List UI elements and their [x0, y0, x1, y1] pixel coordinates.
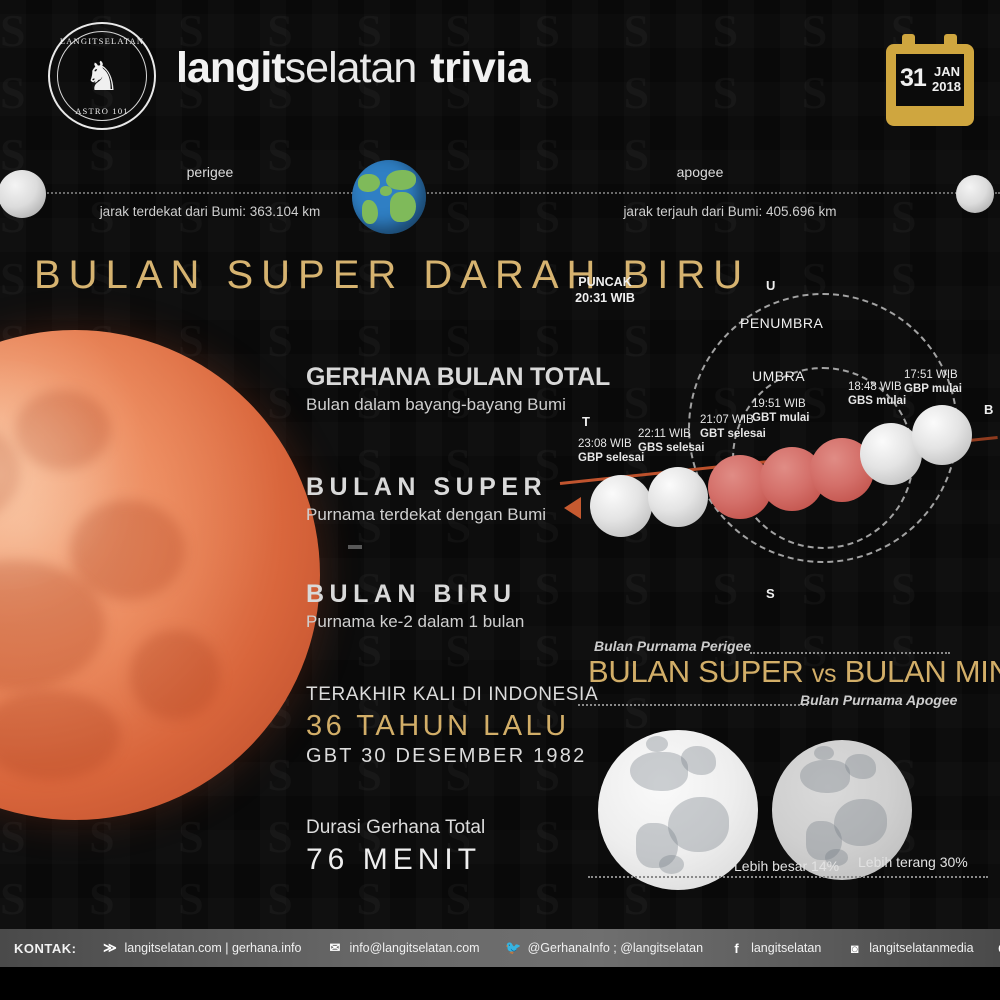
- brand-trivia: trivia: [430, 44, 530, 92]
- duration-caption: Durasi Gerhana Total: [306, 817, 485, 839]
- stage-time: 19:51 WIB: [752, 397, 810, 411]
- duration-value: 76 MENIT: [306, 843, 485, 877]
- stage-time: 22:11 WIB: [638, 427, 704, 441]
- footer-item-instagram[interactable]: ◙ langitselatanmedia: [847, 941, 973, 956]
- footer-item-website[interactable]: ≫ langitselatan.com | gerhana.info: [102, 941, 301, 956]
- eclipse-stage-label: 23:08 WIB GBP selesai: [578, 437, 644, 465]
- brighter-percentage-label: Lebih terang 30%: [858, 854, 968, 870]
- facebook-icon: f: [729, 941, 744, 956]
- fact-bulan-super: BULAN SUPER Purnama terdekat dengan Bumi: [306, 473, 547, 525]
- orbit-dotted-line: [0, 192, 1000, 194]
- eclipse-stage-label: 18:48 WIB GBS mulai: [848, 380, 906, 408]
- footer-item-text: @GerhanaInfo ; @langitselatan: [528, 941, 703, 955]
- apogee-label: apogee: [610, 164, 790, 180]
- moon-mare: [630, 752, 688, 790]
- fact-subtext: Purnama terdekat dengan Bumi: [306, 505, 547, 525]
- moon-mare: [800, 760, 850, 794]
- stage-event: GBS selesai: [638, 441, 704, 455]
- eclipse-path-diagram: U S T B PENUMBRA UMBRA PUNCAK 20:31 WIB …: [560, 275, 1000, 615]
- apogee-distance: jarak terjauh dari Bumi: 405.696 km: [608, 204, 852, 219]
- stage-event: GBT selesai: [700, 427, 766, 441]
- stage-time: 18:48 WIB: [848, 380, 906, 394]
- email-icon: ✉: [327, 941, 342, 956]
- blood-moon-illustration: [0, 330, 320, 820]
- seal-bottom-text: ASTRO 101: [50, 106, 154, 116]
- stage-time: 23:08 WIB: [578, 437, 644, 451]
- stage-event-text: GBT selesai: [700, 428, 766, 440]
- stage-event-text: GBT mulai: [752, 412, 810, 424]
- instagram-icon: ◙: [847, 941, 862, 956]
- moon-mare: [814, 746, 834, 760]
- eclipse-stage-label: 19:51 WIB GBT mulai: [752, 397, 810, 425]
- comparison-title-a: BULAN SUPER: [588, 654, 804, 689]
- moon-mare: [130, 630, 220, 720]
- brand-title: langitselatantrivia: [176, 40, 530, 96]
- footer-item-facebook[interactable]: f langitselatan: [729, 941, 821, 956]
- calendar-month: JAN: [934, 64, 960, 79]
- earth-landmass: [362, 200, 378, 224]
- stage-event-text: GBP mulai: [904, 383, 962, 395]
- perigee-label: perigee: [120, 164, 300, 180]
- footer-item-text: langitselatanmedia: [869, 941, 973, 955]
- stage-time: 17:51 WIB: [904, 368, 962, 382]
- footer-bottom-bar: [0, 967, 1000, 1000]
- bigger-percentage-label: Lebih besar 14%: [734, 858, 839, 874]
- earth-landmass: [358, 174, 380, 192]
- apogee-moon-icon: [956, 175, 994, 213]
- perigee-moon-icon: [0, 170, 46, 218]
- seal-top-text: LANGITSELATAN: [50, 36, 154, 46]
- stage-event-text: GBS mulai: [848, 395, 906, 407]
- comparison-bottom-rule: [578, 704, 808, 706]
- orbit-distance-strip: perigee jarak terdekat dari Bumi: 363.10…: [0, 148, 1000, 248]
- footer-item-twitter[interactable]: 🐦 @GerhanaInfo ; @langitselatan: [506, 941, 703, 956]
- stage-event: GBS mulai: [848, 394, 906, 408]
- comparison-title-vs: vs: [812, 660, 836, 688]
- langitselatan-seal-logo: LANGITSELATAN ♞ ASTRO 101: [48, 22, 156, 130]
- footer-item-text: langitselatan.com | gerhana.info: [124, 941, 301, 955]
- contact-footer: KONTAK: ≫ langitselatan.com | gerhana.in…: [0, 929, 1000, 967]
- last-occurrence-block: TERAKHIR KALI DI INDONESIA 36 TAHUN LALU…: [306, 684, 598, 768]
- compass-west-label: B: [984, 403, 993, 417]
- stage-event-text: GBS selesai: [638, 442, 704, 454]
- fact-heading: BULAN BIRU: [306, 580, 524, 609]
- perigee-distance: jarak terdekat dari Bumi: 363.104 km: [90, 204, 330, 219]
- footer-item-email[interactable]: ✉ info@langitselatan.com: [327, 941, 479, 956]
- last-occurrence-years: 36 TAHUN LALU: [306, 710, 598, 743]
- stage-event-text: GBP selesai: [578, 452, 644, 464]
- moon-mare: [659, 855, 685, 874]
- comparison-bottom-label: Bulan Purnama Apogee: [800, 692, 957, 708]
- seal-horse-icon: ♞: [84, 57, 120, 97]
- calendar-icon: 31 JAN 2018: [886, 34, 974, 126]
- eclipse-moon-stage: [590, 475, 652, 537]
- eclipse-moon-stage: [648, 467, 708, 527]
- last-occurrence-date: GBT 30 DESEMBER 1982: [306, 745, 598, 768]
- fact-subtext: Purnama ke-2 dalam 1 bulan: [306, 612, 524, 632]
- stage-event: GBP mulai: [904, 382, 962, 396]
- brand-bold: langit: [176, 44, 285, 92]
- rss-icon: ≫: [102, 941, 117, 956]
- moon-mare: [646, 736, 668, 752]
- compass-south-label: S: [766, 587, 775, 601]
- header: LANGITSELATAN ♞ ASTRO 101 langitselatant…: [0, 0, 1000, 148]
- divider-dash: [348, 545, 362, 549]
- penumbra-label: PENUMBRA: [740, 316, 823, 330]
- comparison-title-b: BULAN MINI: [845, 654, 1000, 689]
- calendar-year: 2018: [932, 79, 961, 94]
- contact-label: KONTAK:: [14, 941, 76, 956]
- last-occurrence-caption: TERAKHIR KALI DI INDONESIA: [306, 684, 598, 706]
- calendar-day: 31: [900, 64, 926, 93]
- brand-light: selatan: [285, 44, 417, 92]
- comparison-title: BULAN SUPER vs BULAN MINI: [588, 654, 1000, 690]
- comparison-caption-rule: [588, 876, 988, 878]
- stage-event: GBP selesai: [578, 451, 644, 465]
- compass-east-label: T: [582, 415, 590, 429]
- moon-mare: [681, 746, 716, 775]
- comparison-top-label: Bulan Purnama Perigee: [594, 638, 751, 654]
- footer-item-text: info@langitselatan.com: [349, 941, 479, 955]
- eclipse-direction-arrow-icon: [564, 497, 581, 519]
- peak-label-group: PUNCAK 20:31 WIB: [560, 275, 650, 305]
- duration-block: Durasi Gerhana Total 76 MENIT: [306, 817, 485, 877]
- twitter-icon: 🐦: [506, 941, 521, 956]
- earth-icon: [352, 160, 426, 234]
- compass-north-label: U: [766, 279, 775, 293]
- peak-label: PUNCAK: [560, 275, 650, 289]
- earth-landmass: [390, 192, 416, 222]
- fact-bulan-biru: BULAN BIRU Purnama ke-2 dalam 1 bulan: [306, 580, 524, 632]
- moon-mare: [0, 690, 120, 780]
- footer-item-text: langitselatan: [751, 941, 821, 955]
- eclipse-stage-label: 22:11 WIB GBS selesai: [638, 427, 704, 455]
- stage-event: GBT mulai: [752, 411, 810, 425]
- eclipse-moon-stage: [912, 405, 972, 465]
- eclipse-stage-label: 17:51 WIB GBP mulai: [904, 368, 962, 396]
- peak-time: 20:31 WIB: [560, 291, 650, 305]
- earth-landmass: [380, 186, 392, 196]
- fact-heading: BULAN SUPER: [306, 473, 547, 502]
- umbra-label: UMBRA: [752, 369, 805, 383]
- super-vs-mini-comparison: Bulan Purnama Perigee BULAN SUPER vs BUL…: [560, 630, 1000, 920]
